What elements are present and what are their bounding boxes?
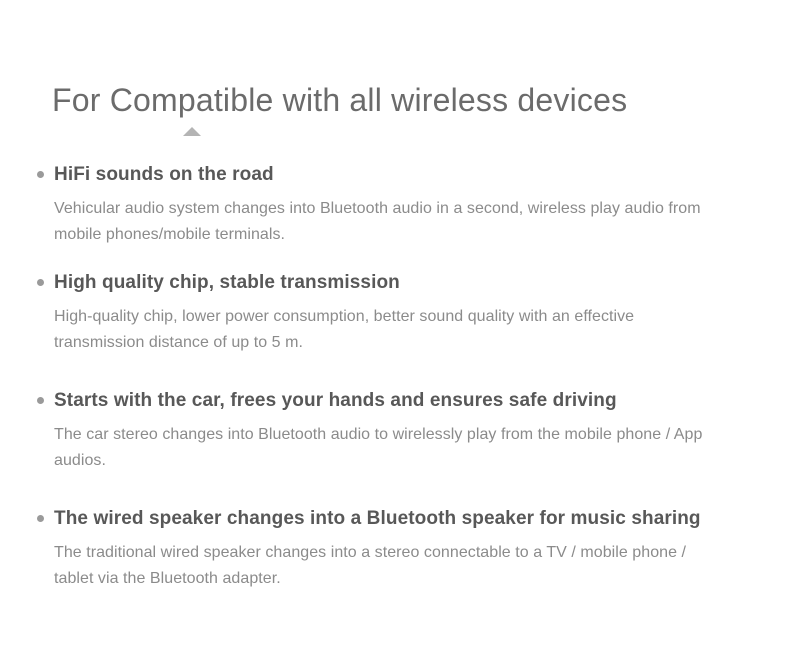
- feature-heading: HiFi sounds on the road: [54, 162, 742, 187]
- feature-body: The traditional wired speaker changes in…: [54, 540, 704, 592]
- list-item: The wired speaker changes into a Bluetoo…: [0, 506, 802, 592]
- feature-heading: The wired speaker changes into a Bluetoo…: [54, 506, 742, 531]
- bullet-dot-icon: [37, 279, 44, 286]
- bullet-dot-icon: [37, 397, 44, 404]
- bullet-dot-icon: [37, 515, 44, 522]
- feature-heading: High quality chip, stable transmission: [54, 270, 742, 295]
- feature-list: HiFi sounds on the road Vehicular audio …: [0, 162, 802, 614]
- feature-body: High-quality chip, lower power consumpti…: [54, 304, 704, 356]
- triangle-up-icon: [183, 127, 201, 136]
- product-feature-page: For Compatible with all wireless devices…: [0, 0, 802, 646]
- page-title: For Compatible with all wireless devices: [52, 79, 627, 121]
- feature-body: Vehicular audio system changes into Blue…: [54, 196, 704, 248]
- feature-heading: Starts with the car, frees your hands an…: [54, 388, 742, 413]
- list-item: High quality chip, stable transmission H…: [0, 270, 802, 356]
- bullet-dot-icon: [37, 171, 44, 178]
- list-item: Starts with the car, frees your hands an…: [0, 388, 802, 474]
- list-item: HiFi sounds on the road Vehicular audio …: [0, 162, 802, 248]
- feature-body: The car stereo changes into Bluetooth au…: [54, 422, 704, 474]
